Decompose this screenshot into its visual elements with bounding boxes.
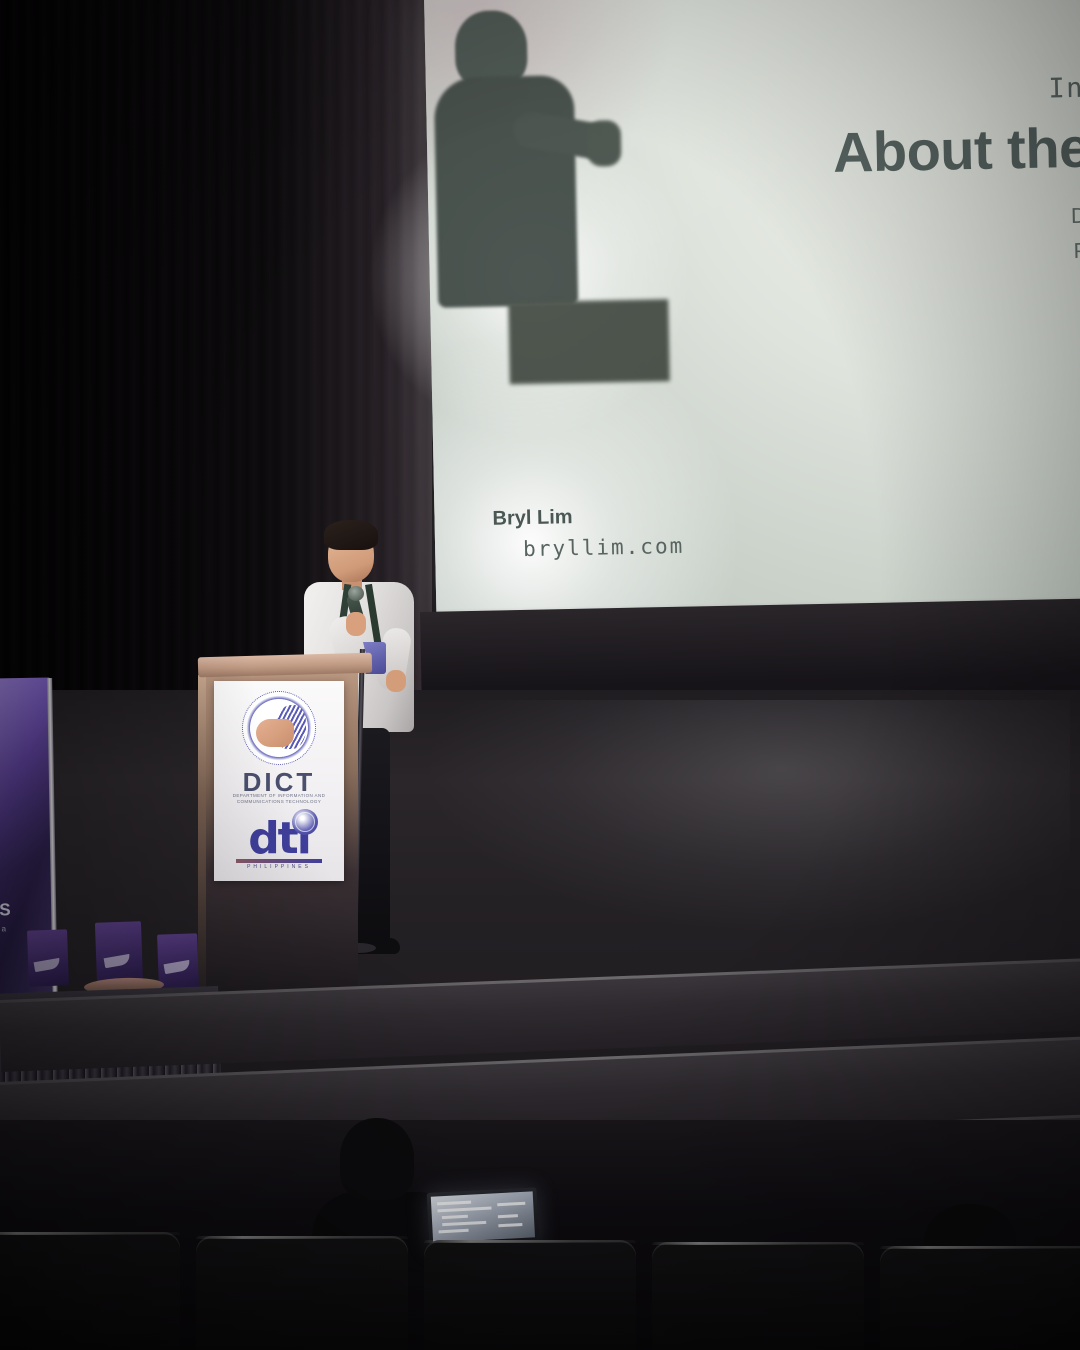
- theater-seat: [880, 1246, 1080, 1350]
- banner-text: S: [0, 900, 11, 920]
- dict-seal-icon: [242, 691, 316, 765]
- shadow-hand: [587, 120, 622, 167]
- speaker-cast-shadow: [432, 7, 701, 442]
- seat-rim-highlight: [0, 1232, 180, 1235]
- speaker-hand-right: [386, 670, 406, 692]
- laptop-screen: [431, 1191, 535, 1242]
- microphone-head-icon: [348, 586, 364, 601]
- item-swoosh-mark: [104, 954, 131, 968]
- theater-seat: [0, 1232, 180, 1350]
- seat-rim-highlight: [424, 1240, 636, 1243]
- table-item: [27, 929, 69, 986]
- item-swoosh-mark: [34, 958, 61, 972]
- dti-underline-bar: [236, 859, 322, 863]
- audience-head: [340, 1118, 414, 1200]
- shadow-body: [434, 75, 579, 308]
- dti-logo: dti PHILIPPINES: [214, 809, 344, 871]
- theater-seat: [424, 1240, 636, 1350]
- theater-seat: [196, 1236, 408, 1350]
- item-swoosh-mark: [164, 960, 191, 974]
- slide-speaker-website: bryllim.com: [523, 534, 685, 561]
- shadow-podium: [508, 299, 670, 384]
- screenshot-root: Introducti About the Speak DICT OpenGov …: [0, 0, 1080, 1350]
- banner-subtext: a: [2, 924, 7, 933]
- slide-speaker-name: Bryl Lim: [492, 506, 572, 531]
- dti-globe-icon: [292, 809, 318, 835]
- stage-spotlight: [430, 700, 1070, 930]
- projection-screen: Introducti About the Speak DICT OpenGov …: [424, 0, 1080, 634]
- speaker-hand-left: [346, 612, 366, 636]
- seat-rim-highlight: [652, 1242, 864, 1245]
- table-item: [157, 933, 199, 988]
- theater-seat: [652, 1242, 864, 1350]
- dti-country-label: PHILIPPINES: [214, 864, 344, 870]
- dict-subtitle: DEPARTMENT OF INFORMATION AND COMMUNICAT…: [214, 793, 344, 805]
- slide-title: About the Speak: [832, 111, 1080, 185]
- seat-rim-highlight: [880, 1246, 1080, 1249]
- table-item: [95, 921, 143, 985]
- speaker-hair: [324, 520, 378, 550]
- podium: DICT DEPARTMENT OF INFORMATION AND COMMU…: [204, 655, 366, 995]
- seal-handshake-icon: [256, 719, 294, 747]
- slide-eyebrow: Introducti: [1048, 70, 1080, 105]
- slide-bullet-list: DICT OpenGov Hackathon Champion Principa…: [678, 192, 1080, 449]
- seat-rim-highlight: [196, 1236, 408, 1239]
- dti-wordmark: dti: [214, 817, 344, 861]
- podium-placard: DICT DEPARTMENT OF INFORMATION AND COMMU…: [214, 681, 344, 881]
